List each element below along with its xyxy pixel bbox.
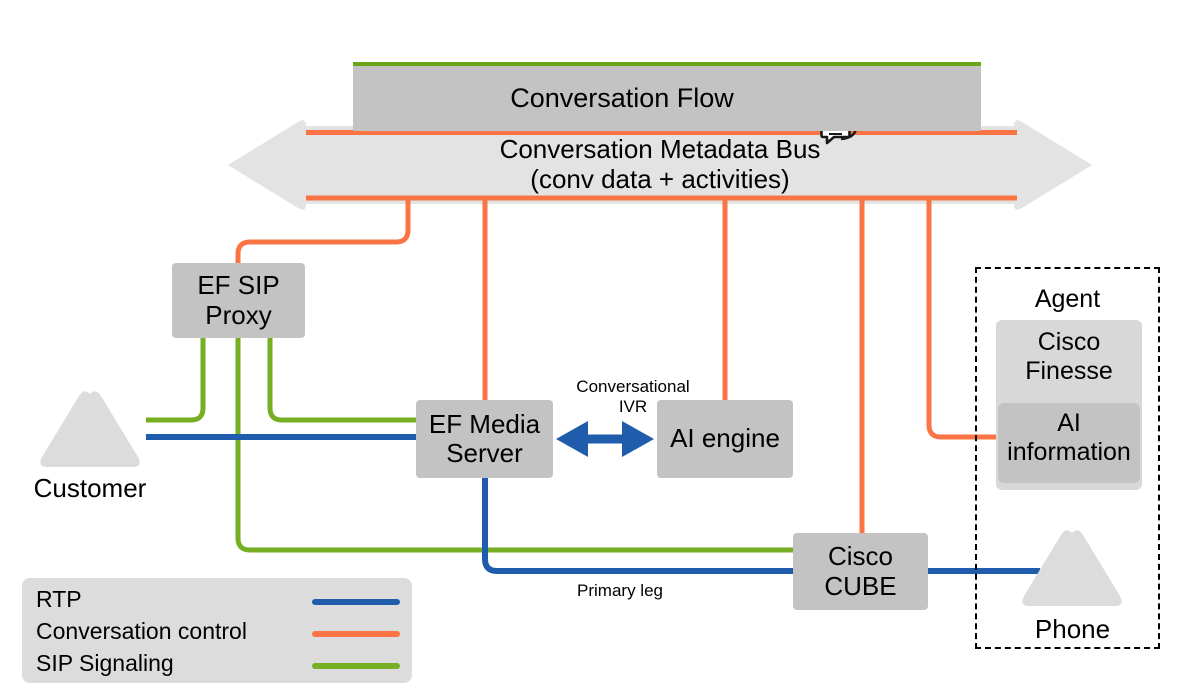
ai-information-line-2: information [998, 438, 1140, 467]
node-ef-sip-proxy[interactable]: EF SIP Proxy [172, 263, 305, 338]
conversational-ivr-line-2: IVR [528, 397, 738, 417]
legend-swatch-rtp [312, 599, 400, 605]
connector-legend: RTP Conversation control SIP Signaling [22, 578, 412, 683]
ai-information-label: AI information [998, 409, 1140, 466]
node-ai-information[interactable]: AI information [998, 403, 1140, 483]
metadata-bus-line-1: Conversation Metadata Bus [300, 134, 1020, 164]
node-cisco-cube[interactable]: Cisco CUBE [793, 533, 928, 610]
metadata-bus-arrow-right [1014, 120, 1092, 210]
conversation-flow-top-accent [353, 62, 981, 66]
customer-triangle-icon [40, 391, 139, 467]
cisco-cube-line-1: Cisco [824, 542, 896, 571]
cisco-finesse-label: Cisco Finesse [996, 328, 1142, 385]
ai-information-line-1: AI [998, 409, 1140, 438]
legend-label-rtp: RTP [36, 586, 82, 613]
conversational-ivr-annotation: Conversational IVR [528, 377, 738, 418]
phone-label: Phone [1000, 614, 1145, 645]
ef-media-server-line-2: Server [429, 439, 540, 468]
conversational-ivr-arrow [556, 421, 654, 457]
ef-sip-proxy-line-1: EF SIP [197, 271, 279, 300]
link-sip-proxy-to-customer [146, 338, 203, 420]
ai-engine-label: AI engine [670, 424, 780, 453]
node-cisco-finesse[interactable]: Cisco Finesse AI information [996, 320, 1142, 490]
agent-group-label: Agent [975, 285, 1160, 314]
metadata-bus-line-2: (conv data + activities) [300, 164, 1020, 194]
cisco-cube-line-2: CUBE [824, 572, 896, 601]
legend-label-sip-signaling: SIP Signaling [36, 650, 174, 677]
metadata-bus-label: Conversation Metadata Bus (conv data + a… [300, 134, 1020, 195]
cisco-finesse-line-2: Finesse [996, 357, 1142, 386]
conversational-ivr-line-1: Conversational [528, 377, 738, 397]
diagram-canvas: Conversation Flow Conversation Metadata … [0, 0, 1200, 700]
ef-sip-proxy-line-2: Proxy [197, 301, 279, 330]
cisco-finesse-line-1: Cisco [996, 328, 1142, 357]
link-rtp-ef-media-server-to-cisco-cube [485, 478, 795, 571]
legend-label-conversation-control: Conversation control [36, 618, 247, 645]
metadata-bus-arrow [228, 120, 306, 210]
customer-label: Customer [10, 473, 170, 504]
link-sip-proxy-to-ef-media-server [270, 338, 418, 420]
conversation-flow-label: Conversation Flow [510, 83, 734, 113]
link-bus-to-ef-sip-proxy [238, 198, 408, 265]
ef-media-server-line-1: EF Media [429, 410, 540, 439]
legend-swatch-sip-signaling [312, 663, 400, 669]
conversation-flow-bar[interactable]: Conversation Flow [353, 65, 981, 131]
legend-swatch-conversation-control [312, 631, 400, 637]
primary-leg-annotation: Primary leg [500, 581, 740, 601]
